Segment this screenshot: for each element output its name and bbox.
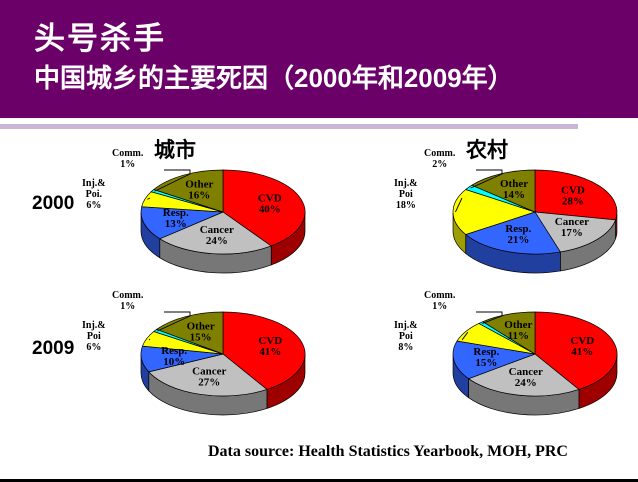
pie-label-resp: Resp.15% [473,346,499,369]
pie-svg: CVD41%Cancer27%Resp.10%Other15% [128,302,318,426]
pie-label-cvd: CVD40% [258,192,282,215]
pie-label-other: Other14% [500,178,528,201]
svg-text:21%: 21% [507,234,529,246]
pie-label-resp: Resp.21% [505,223,531,246]
pie-chart-rural-2009: CVD41%Cancer24%Resp.15%Other11%Inj.&Poi8… [440,302,630,426]
svg-text:41%: 41% [259,346,281,358]
svg-text:28%: 28% [562,195,584,207]
pie-chart-rural-2000: CVD28%Cancer17%Resp.21%Other14%Inj.&Poi1… [440,160,630,284]
pie-label-other: Other15% [187,320,215,343]
pie-chart-urban-2000: CVD40%Cancer24%Resp.13%Other16%Inj.&Poi.… [128,160,318,284]
row-label-2000: 2000 [32,193,74,215]
svg-text:11%: 11% [508,330,529,342]
pie-svg: CVD41%Cancer24%Resp.15%Other11% [440,302,630,426]
pie-label-cvd: CVD41% [570,335,594,358]
pie-svg: CVD28%Cancer17%Resp.21%Other14% [440,160,630,284]
svg-text:14%: 14% [503,189,525,201]
svg-text:41%: 41% [571,346,593,358]
pie-callout-label-comm: Comm.1% [112,148,143,170]
pie-label-cvd: CVD28% [561,184,585,207]
pie-label-resp: Resp.13% [163,207,189,230]
pie-callout-label-injpoi: Inj.&Poi18% [394,178,418,211]
header-divider [0,124,578,129]
pie-callout-label-injpoi: Inj.&Poi.6% [82,178,106,211]
title-band: 头号杀手 中国城乡的主要死因（2000年和2009年） [0,0,638,118]
pie-callout-label-injpoi: Inj.&Poi8% [394,320,418,353]
pie-callout-label-comm: Comm.1% [424,290,455,312]
svg-text:24%: 24% [515,377,537,389]
svg-text:10%: 10% [163,356,185,368]
page-title: 头号杀手 [34,22,166,56]
row-label-2009: 2009 [32,338,74,360]
pie-label-other: Other11% [504,319,532,342]
pie-label-resp: Resp.10% [161,345,187,368]
page-subtitle: 中国城乡的主要死因（2000年和2009年） [34,63,514,93]
svg-text:16%: 16% [188,190,210,202]
pie-callout-label-comm: Comm.2% [424,148,455,170]
svg-text:13%: 13% [165,218,187,230]
svg-text:24%: 24% [206,235,228,247]
svg-text:27%: 27% [198,376,220,388]
pie-callout-label-comm: Comm.1% [112,290,143,312]
pie-callout-label-injpoi: Inj.&Poi6% [82,320,106,353]
pie-label-other: Other16% [185,179,213,202]
pie-label-cvd: CVD41% [258,335,282,358]
svg-text:40%: 40% [259,203,281,215]
svg-text:15%: 15% [190,331,212,343]
pie-svg: CVD40%Cancer24%Resp.13%Other16% [128,160,318,284]
slide-root: 头号杀手 中国城乡的主要死因（2000年和2009年） 城市 农村 2000 2… [0,0,638,482]
svg-text:15%: 15% [475,357,497,369]
pie-chart-urban-2009: CVD41%Cancer27%Resp.10%Other15%Inj.&Poi6… [128,302,318,426]
svg-text:17%: 17% [561,227,583,239]
data-source-note: Data source: Health Statistics Yearbook,… [208,443,568,461]
